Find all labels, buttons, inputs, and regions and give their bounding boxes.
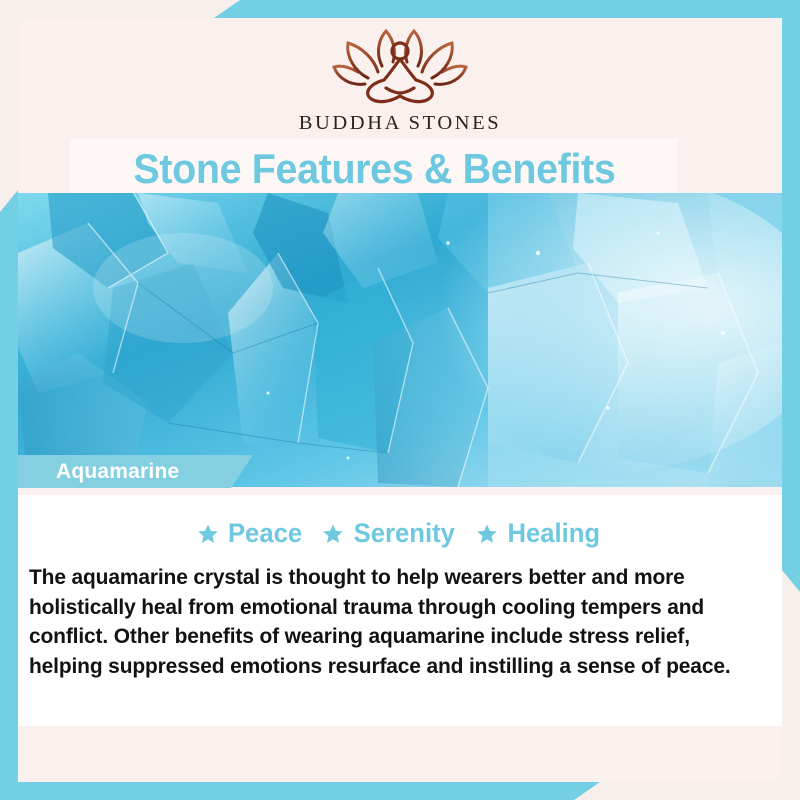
brand-logo-area: BUDDHA STONES <box>18 18 782 146</box>
benefit-keyword-label: Peace <box>228 518 302 549</box>
benefit-keyword-row: Peace Serenity Healing <box>18 518 782 549</box>
benefit-keyword-peace: Peace <box>197 518 304 549</box>
poster-root: BUDDHA STONES Stone Features & Benefits <box>0 0 800 800</box>
frame-band-left <box>0 190 18 800</box>
benefit-keyword-label: Serenity <box>354 518 455 549</box>
star-icon <box>476 523 498 545</box>
frame-band-right <box>782 0 800 592</box>
frame-band-top <box>214 0 800 18</box>
page-title: Stone Features & Benefits <box>133 145 615 193</box>
content-card: Peace Serenity Healing The aquamarine cr… <box>18 495 782 726</box>
hero-image <box>18 193 782 487</box>
lotus-meditation-figure-icon <box>320 26 480 110</box>
stone-name-tag: Aquamarine <box>18 455 253 488</box>
benefit-keyword-serenity: Serenity <box>322 518 458 549</box>
star-icon <box>197 523 219 545</box>
aquamarine-crystal-cluster-photo <box>18 193 782 487</box>
stone-name-label: Aquamarine <box>56 460 179 484</box>
star-icon <box>322 523 344 545</box>
title-banner: Stone Features & Benefits <box>70 138 678 200</box>
page-surface: BUDDHA STONES Stone Features & Benefits <box>18 18 782 782</box>
frame-band-bottom <box>0 782 600 800</box>
benefit-keyword-healing: Healing <box>476 518 603 549</box>
description-paragraph: The aquamarine crystal is thought to hel… <box>29 563 751 681</box>
benefit-keyword-label: Healing <box>507 518 600 549</box>
brand-wordmark: BUDDHA STONES <box>299 112 502 135</box>
